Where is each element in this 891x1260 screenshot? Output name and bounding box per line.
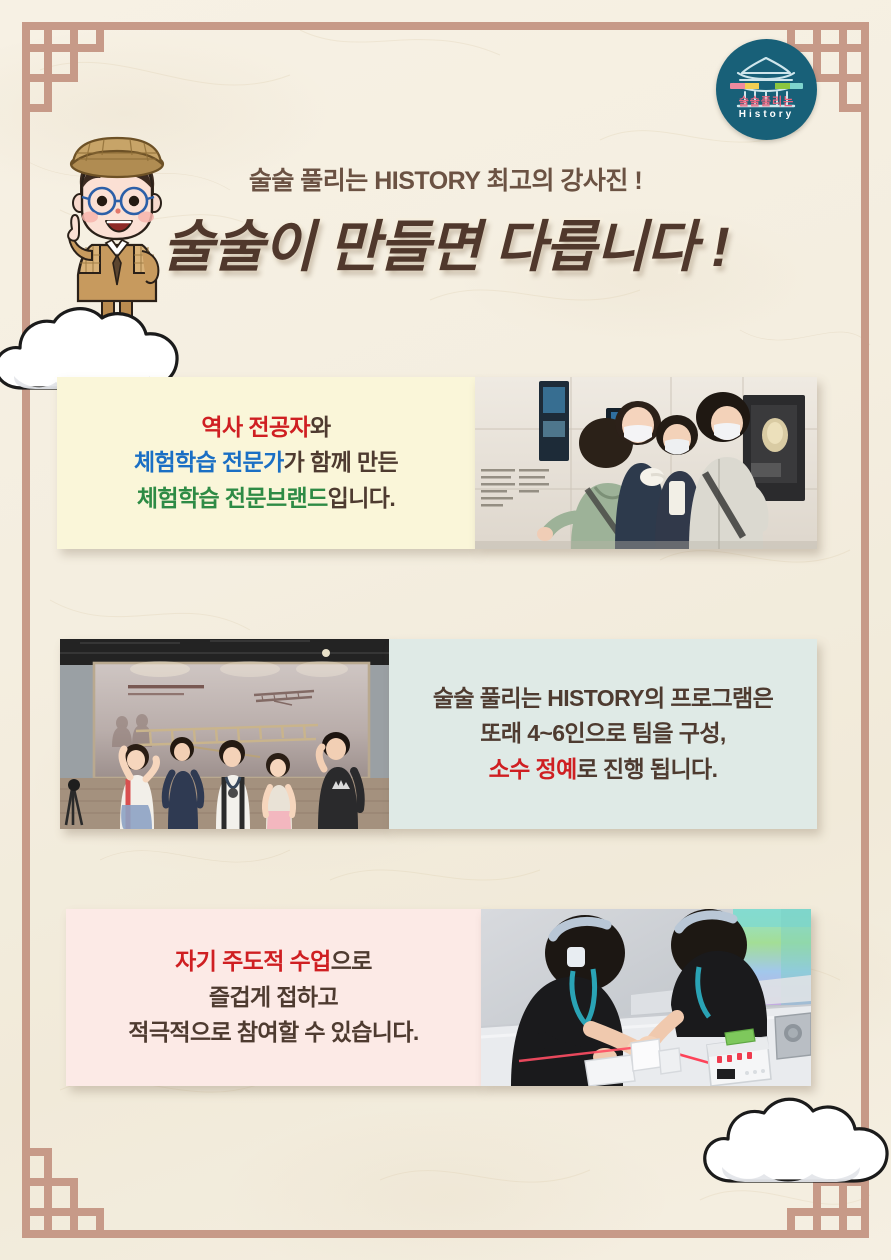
logo-color-bar <box>730 83 803 89</box>
self-line1-rest: 으로 <box>331 948 372 974</box>
section-experts: 역사 전공자와 체험학습 전문가가 함께 만든 체험학습 전문브랜드입니다. <box>57 377 817 549</box>
logo-brand-korean: 술술풀리는 <box>716 93 817 109</box>
group-line3-rest: 로 진행 됩니다. <box>577 756 718 782</box>
headline-block: 술술 풀리는 HISTORY 최고의 강사진 ! 술술이 만들면 다릅니다 ! <box>0 168 891 276</box>
section-self-directed-text-panel: 자기 주도적 수업으로 즐겁게 접하고 적극적으로 참여할 수 있습니다. <box>66 909 481 1086</box>
logo-brand-english: History <box>716 109 817 120</box>
section-small-group-text-panel: 술술 풀리는 HISTORY의 프로그램은 또래 4~6인으로 팀을 구성, 소… <box>389 639 817 829</box>
section-experts-text-panel: 역사 전공자와 체험학습 전문가가 함께 만든 체험학습 전문브랜드입니다. <box>57 377 475 549</box>
experts-line2-rest: 가 함께 만든 <box>284 449 398 475</box>
group-line1: 술술 풀리는 HISTORY의 프로그램은 <box>433 685 773 711</box>
experts-line3-emph: 체험학습 전문브랜드 <box>137 485 328 511</box>
experts-line1-emph: 역사 전공자 <box>201 414 310 440</box>
page-subtitle: 술술 풀리는 HISTORY 최고의 강사진 ! <box>0 168 891 196</box>
logo-bar-segment-green <box>775 83 790 89</box>
logo-bar-segment-pink <box>730 83 745 89</box>
cloud-bottom-right <box>700 1085 891 1185</box>
group-line3-emph: 소수 정예 <box>489 756 577 782</box>
section-self-directed-text: 자기 주도적 수업으로 즐겁게 접하고 적극적으로 참여할 수 있습니다. <box>128 944 418 1051</box>
logo-bar-segment-yellow <box>745 83 760 89</box>
hanok-palace-icon <box>716 39 817 140</box>
logo-bar-segment-aqua <box>790 83 803 89</box>
photo-hands-on-laser-experiment <box>481 909 811 1086</box>
photo-museum-exhibit-visit <box>475 377 817 549</box>
self-line1-emph: 자기 주도적 수업 <box>175 948 331 974</box>
frame-line-top <box>22 22 869 30</box>
section-experts-text: 역사 전공자와 체험학습 전문가가 함께 만든 체험학습 전문브랜드입니다. <box>134 410 398 517</box>
corner-ornament-top-left <box>22 22 122 122</box>
self-line3: 적극적으로 참여할 수 있습니다. <box>128 1019 418 1045</box>
section-small-group: 술술 풀리는 HISTORY의 프로그램은 또래 4~6인으로 팀을 구성, 소… <box>60 639 817 829</box>
self-line2: 즐겁게 접하고 <box>209 984 338 1010</box>
section-self-directed: 자기 주도적 수업으로 즐겁게 접하고 적극적으로 참여할 수 있습니다. <box>66 909 811 1086</box>
frame-line-bottom <box>22 1230 869 1238</box>
section-small-group-text: 술술 풀리는 HISTORY의 프로그램은 또래 4~6인으로 팀을 구성, 소… <box>433 681 773 788</box>
experts-line3-rest: 입니다. <box>328 485 395 511</box>
experts-line2-emph: 체험학습 전문가 <box>134 449 284 475</box>
page-title: 술술이 만들면 다릅니다 ! <box>0 218 891 277</box>
poster-canvas: 술술풀리는 History <box>0 0 891 1260</box>
corner-ornament-bottom-left <box>22 1138 122 1238</box>
photo-aviation-exhibit-group <box>60 639 389 829</box>
logo-bar-segment-teal <box>759 83 775 89</box>
logo-badge[interactable]: 술술풀리는 History <box>716 39 817 140</box>
experts-line1-rest: 와 <box>310 414 331 440</box>
group-line2: 또래 4~6인으로 팀을 구성, <box>480 720 725 746</box>
